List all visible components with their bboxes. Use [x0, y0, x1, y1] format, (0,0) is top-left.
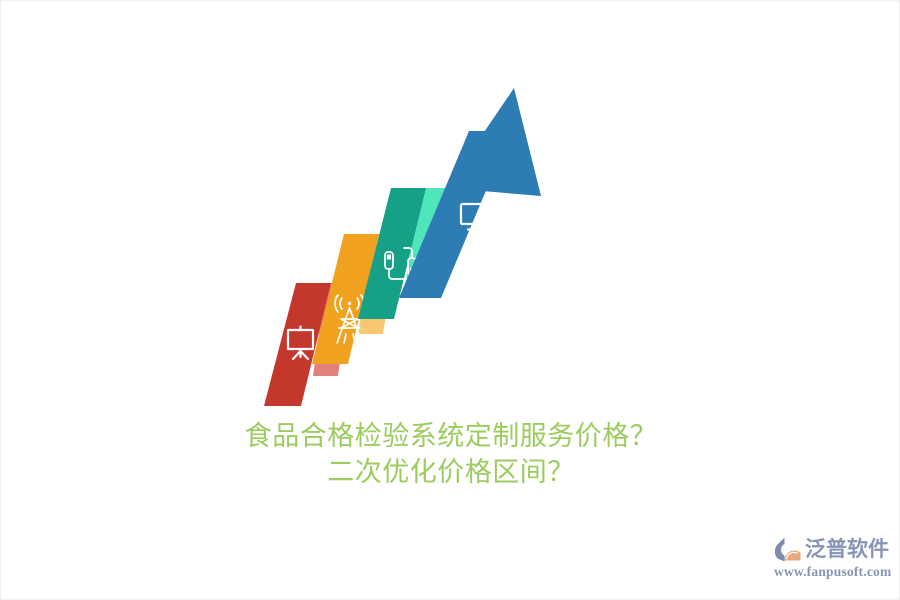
page-title-line-1: 食品合格检验系统定制服务价格？: [1, 419, 900, 455]
arrow-head: [446, 88, 541, 196]
fanpu-logo-icon: [773, 536, 802, 563]
page-title: 食品合格检验系统定制服务价格？ 二次优化价格区间？: [1, 419, 900, 490]
brand-name: 泛普软件: [805, 539, 889, 560]
brand-watermark: 泛普软件 www.fanpusoft.com: [773, 534, 893, 586]
brand-row: 泛普软件: [773, 534, 889, 564]
screenshot-canvas: 食品合格检验系统定制服务价格？ 二次优化价格区间？ 泛普软件 www.fanpu…: [0, 0, 900, 600]
ascending-arrow-graphic: [256, 76, 566, 421]
page-title-line-2: 二次优化价格区间？: [1, 455, 900, 491]
brand-url: www.fanpusoft.com: [774, 565, 891, 579]
